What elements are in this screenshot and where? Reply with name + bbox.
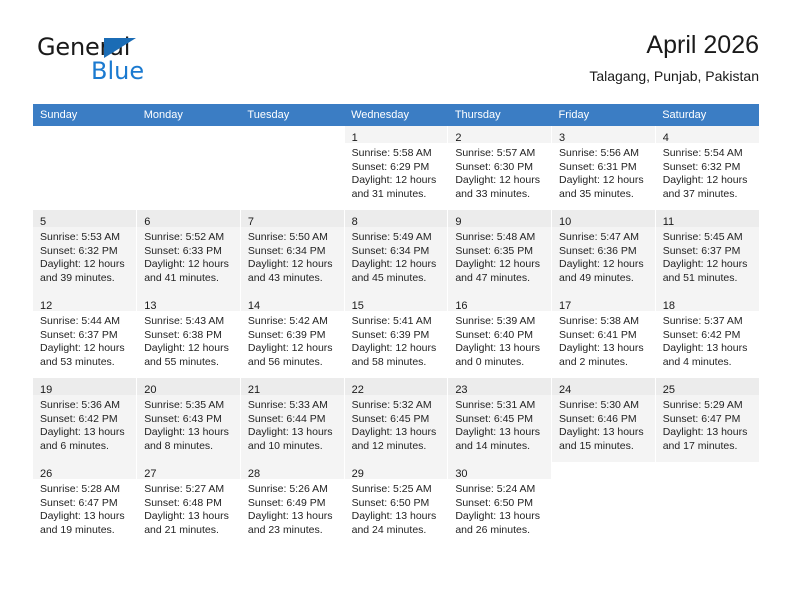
calendar-day-cell-empty (33, 126, 137, 210)
daylight-text: Daylight: 13 hours and 26 minutes. (455, 510, 544, 537)
daylight-text: Daylight: 13 hours and 4 minutes. (663, 342, 752, 369)
day-cell-inner: 19Sunrise: 5:36 AMSunset: 6:42 PMDayligh… (33, 378, 136, 462)
sunrise-text: Sunrise: 5:41 AM (352, 315, 441, 329)
daylight-text: Daylight: 12 hours and 37 minutes. (663, 174, 752, 201)
day-details: Sunrise: 5:44 AMSunset: 6:37 PMDaylight:… (33, 311, 136, 369)
day-cell-inner: 10Sunrise: 5:47 AMSunset: 6:36 PMDayligh… (552, 210, 655, 294)
sunrise-text: Sunrise: 5:47 AM (559, 231, 648, 245)
day-cell-inner: 26Sunrise: 5:28 AMSunset: 6:47 PMDayligh… (33, 462, 136, 546)
calendar-day-cell-empty (552, 462, 656, 546)
day-number-band (241, 126, 344, 143)
day-details: Sunrise: 5:33 AMSunset: 6:44 PMDaylight:… (241, 395, 344, 453)
day-number-band: 1 (345, 126, 448, 143)
page-subtitle: Talagang, Punjab, Pakistan (589, 67, 759, 85)
sunset-text: Sunset: 6:34 PM (248, 245, 337, 259)
sunset-text: Sunset: 6:50 PM (455, 497, 544, 511)
day-number: 27 (144, 468, 156, 480)
calendar-header-row: SundayMondayTuesdayWednesdayThursdayFrid… (33, 104, 759, 126)
day-details: Sunrise: 5:30 AMSunset: 6:46 PMDaylight:… (552, 395, 655, 453)
brand-name-bottom: Blue (91, 58, 144, 84)
calendar-day-cell[interactable]: 2Sunrise: 5:57 AMSunset: 6:30 PMDaylight… (448, 126, 552, 210)
weekday-header-sunday: Sunday (33, 104, 137, 126)
day-number-band: 14 (241, 294, 344, 311)
sunset-text: Sunset: 6:35 PM (455, 245, 544, 259)
sunrise-text: Sunrise: 5:27 AM (144, 483, 233, 497)
sunset-text: Sunset: 6:42 PM (663, 329, 752, 343)
day-number: 26 (40, 468, 52, 480)
day-cell-inner: 16Sunrise: 5:39 AMSunset: 6:40 PMDayligh… (448, 294, 551, 378)
day-number-band: 22 (345, 378, 448, 395)
sunset-text: Sunset: 6:37 PM (663, 245, 752, 259)
day-details: Sunrise: 5:54 AMSunset: 6:32 PMDaylight:… (656, 143, 759, 201)
day-number-band: 17 (552, 294, 655, 311)
day-number: 8 (352, 216, 358, 228)
calendar-week-row: 1Sunrise: 5:58 AMSunset: 6:29 PMDaylight… (33, 126, 759, 210)
daylight-text: Daylight: 13 hours and 15 minutes. (559, 426, 648, 453)
day-number-band: 21 (241, 378, 344, 395)
day-cell-inner: 6Sunrise: 5:52 AMSunset: 6:33 PMDaylight… (137, 210, 240, 294)
day-details: Sunrise: 5:42 AMSunset: 6:39 PMDaylight:… (241, 311, 344, 369)
day-number-band: 8 (345, 210, 448, 227)
calendar-day-cell[interactable]: 11Sunrise: 5:45 AMSunset: 6:37 PMDayligh… (655, 210, 759, 294)
calendar-day-cell[interactable]: 25Sunrise: 5:29 AMSunset: 6:47 PMDayligh… (655, 378, 759, 462)
day-number: 6 (144, 216, 150, 228)
weekday-header-tuesday: Tuesday (240, 104, 344, 126)
sunset-text: Sunset: 6:50 PM (352, 497, 441, 511)
calendar-day-cell[interactable]: 16Sunrise: 5:39 AMSunset: 6:40 PMDayligh… (448, 294, 552, 378)
day-number-band: 18 (656, 294, 759, 311)
day-cell-inner: 9Sunrise: 5:48 AMSunset: 6:35 PMDaylight… (448, 210, 551, 294)
day-number: 28 (248, 468, 260, 480)
day-cell-inner: 20Sunrise: 5:35 AMSunset: 6:43 PMDayligh… (137, 378, 240, 462)
calendar-day-cell[interactable]: 19Sunrise: 5:36 AMSunset: 6:42 PMDayligh… (33, 378, 137, 462)
calendar-day-cell[interactable]: 9Sunrise: 5:48 AMSunset: 6:35 PMDaylight… (448, 210, 552, 294)
day-number-band: 23 (448, 378, 551, 395)
sunrise-text: Sunrise: 5:54 AM (663, 147, 752, 161)
daylight-text: Daylight: 13 hours and 21 minutes. (144, 510, 233, 537)
day-details: Sunrise: 5:53 AMSunset: 6:32 PMDaylight:… (33, 227, 136, 285)
day-number: 20 (144, 384, 156, 396)
calendar-day-cell[interactable]: 20Sunrise: 5:35 AMSunset: 6:43 PMDayligh… (137, 378, 241, 462)
sunset-text: Sunset: 6:33 PM (144, 245, 233, 259)
sunrise-text: Sunrise: 5:28 AM (40, 483, 129, 497)
day-cell-inner: 15Sunrise: 5:41 AMSunset: 6:39 PMDayligh… (345, 294, 448, 378)
calendar-week-row: 12Sunrise: 5:44 AMSunset: 6:37 PMDayligh… (33, 294, 759, 378)
daylight-text: Daylight: 13 hours and 10 minutes. (248, 426, 337, 453)
day-number: 14 (248, 300, 260, 312)
calendar-day-cell[interactable]: 10Sunrise: 5:47 AMSunset: 6:36 PMDayligh… (552, 210, 656, 294)
day-details: Sunrise: 5:43 AMSunset: 6:38 PMDaylight:… (137, 311, 240, 369)
day-number: 19 (40, 384, 52, 396)
day-number-band: 15 (345, 294, 448, 311)
sunrise-text: Sunrise: 5:58 AM (352, 147, 441, 161)
day-number-band: 2 (448, 126, 551, 143)
sunset-text: Sunset: 6:42 PM (40, 413, 129, 427)
daylight-text: Daylight: 12 hours and 55 minutes. (144, 342, 233, 369)
day-details: Sunrise: 5:29 AMSunset: 6:47 PMDaylight:… (656, 395, 759, 453)
day-number-band: 27 (137, 462, 240, 479)
day-number: 9 (455, 216, 461, 228)
day-cell-inner: 7Sunrise: 5:50 AMSunset: 6:34 PMDaylight… (241, 210, 344, 294)
day-details: Sunrise: 5:31 AMSunset: 6:45 PMDaylight:… (448, 395, 551, 453)
calendar-day-cell[interactable]: 7Sunrise: 5:50 AMSunset: 6:34 PMDaylight… (240, 210, 344, 294)
day-cell-inner: 18Sunrise: 5:37 AMSunset: 6:42 PMDayligh… (656, 294, 759, 378)
day-number-band: 5 (33, 210, 136, 227)
calendar-day-cell[interactable]: 21Sunrise: 5:33 AMSunset: 6:44 PMDayligh… (240, 378, 344, 462)
daylight-text: Daylight: 12 hours and 39 minutes. (40, 258, 129, 285)
weekday-header-friday: Friday (552, 104, 656, 126)
daylight-text: Daylight: 12 hours and 58 minutes. (352, 342, 441, 369)
day-cell-inner: 21Sunrise: 5:33 AMSunset: 6:44 PMDayligh… (241, 378, 344, 462)
sunset-text: Sunset: 6:32 PM (663, 161, 752, 175)
sunrise-text: Sunrise: 5:32 AM (352, 399, 441, 413)
day-number: 15 (352, 300, 364, 312)
day-number: 13 (144, 300, 156, 312)
day-details: Sunrise: 5:27 AMSunset: 6:48 PMDaylight:… (137, 479, 240, 537)
day-number-band: 20 (137, 378, 240, 395)
day-details: Sunrise: 5:39 AMSunset: 6:40 PMDaylight:… (448, 311, 551, 369)
calendar-day-cell[interactable]: 29Sunrise: 5:25 AMSunset: 6:50 PMDayligh… (344, 462, 448, 546)
calendar-day-cell[interactable]: 5Sunrise: 5:53 AMSunset: 6:32 PMDaylight… (33, 210, 137, 294)
sunset-text: Sunset: 6:38 PM (144, 329, 233, 343)
day-cell-inner: 8Sunrise: 5:49 AMSunset: 6:34 PMDaylight… (345, 210, 448, 294)
sunrise-text: Sunrise: 5:29 AM (663, 399, 752, 413)
title-block: April 2026 Talagang, Punjab, Pakistan (589, 30, 759, 85)
sunrise-text: Sunrise: 5:52 AM (144, 231, 233, 245)
day-details: Sunrise: 5:49 AMSunset: 6:34 PMDaylight:… (345, 227, 448, 285)
day-cell-inner: 5Sunrise: 5:53 AMSunset: 6:32 PMDaylight… (33, 210, 136, 294)
day-cell-inner: 24Sunrise: 5:30 AMSunset: 6:46 PMDayligh… (552, 378, 655, 462)
daylight-text: Daylight: 13 hours and 17 minutes. (663, 426, 752, 453)
day-number-band: 6 (137, 210, 240, 227)
sunset-text: Sunset: 6:48 PM (144, 497, 233, 511)
calendar-day-cell[interactable]: 22Sunrise: 5:32 AMSunset: 6:45 PMDayligh… (344, 378, 448, 462)
calendar-day-cell[interactable]: 27Sunrise: 5:27 AMSunset: 6:48 PMDayligh… (137, 462, 241, 546)
day-cell-inner (241, 126, 344, 210)
day-details: Sunrise: 5:35 AMSunset: 6:43 PMDaylight:… (137, 395, 240, 453)
sunrise-text: Sunrise: 5:44 AM (40, 315, 129, 329)
day-number-band: 28 (241, 462, 344, 479)
day-cell-inner: 28Sunrise: 5:26 AMSunset: 6:49 PMDayligh… (241, 462, 344, 546)
day-cell-inner: 3Sunrise: 5:56 AMSunset: 6:31 PMDaylight… (552, 126, 655, 210)
sunset-text: Sunset: 6:31 PM (559, 161, 648, 175)
calendar-week-row: 19Sunrise: 5:36 AMSunset: 6:42 PMDayligh… (33, 378, 759, 462)
day-number-band: 25 (656, 378, 759, 395)
sunset-text: Sunset: 6:45 PM (352, 413, 441, 427)
sunrise-text: Sunrise: 5:43 AM (144, 315, 233, 329)
day-number-band (656, 462, 759, 479)
day-number: 4 (663, 132, 669, 144)
day-details: Sunrise: 5:38 AMSunset: 6:41 PMDaylight:… (552, 311, 655, 369)
day-number-band: 13 (137, 294, 240, 311)
day-details: Sunrise: 5:36 AMSunset: 6:42 PMDaylight:… (33, 395, 136, 453)
day-cell-inner: 23Sunrise: 5:31 AMSunset: 6:45 PMDayligh… (448, 378, 551, 462)
sunrise-text: Sunrise: 5:42 AM (248, 315, 337, 329)
daylight-text: Daylight: 13 hours and 8 minutes. (144, 426, 233, 453)
calendar-day-cell[interactable]: 12Sunrise: 5:44 AMSunset: 6:37 PMDayligh… (33, 294, 137, 378)
sunset-text: Sunset: 6:40 PM (455, 329, 544, 343)
page-header: General Blue April 2026 Talagang, Punjab… (33, 30, 759, 96)
weekday-header-thursday: Thursday (448, 104, 552, 126)
day-number: 17 (559, 300, 571, 312)
sunrise-text: Sunrise: 5:57 AM (455, 147, 544, 161)
sunrise-text: Sunrise: 5:49 AM (352, 231, 441, 245)
day-number-band: 26 (33, 462, 136, 479)
day-cell-inner: 14Sunrise: 5:42 AMSunset: 6:39 PMDayligh… (241, 294, 344, 378)
daylight-text: Daylight: 12 hours and 45 minutes. (352, 258, 441, 285)
weekday-header-monday: Monday (137, 104, 241, 126)
calendar-day-cell-empty (655, 462, 759, 546)
day-cell-inner (137, 126, 240, 210)
sunset-text: Sunset: 6:36 PM (559, 245, 648, 259)
calendar-day-cell[interactable]: 26Sunrise: 5:28 AMSunset: 6:47 PMDayligh… (33, 462, 137, 546)
day-number-band: 7 (241, 210, 344, 227)
day-number: 24 (559, 384, 571, 396)
sunset-text: Sunset: 6:46 PM (559, 413, 648, 427)
day-number-band: 10 (552, 210, 655, 227)
sunrise-text: Sunrise: 5:38 AM (559, 315, 648, 329)
sunset-text: Sunset: 6:29 PM (352, 161, 441, 175)
daylight-text: Daylight: 12 hours and 31 minutes. (352, 174, 441, 201)
calendar-day-cell[interactable]: 14Sunrise: 5:42 AMSunset: 6:39 PMDayligh… (240, 294, 344, 378)
sunset-text: Sunset: 6:45 PM (455, 413, 544, 427)
weekday-header-saturday: Saturday (655, 104, 759, 126)
calendar-week-row: 26Sunrise: 5:28 AMSunset: 6:47 PMDayligh… (33, 462, 759, 546)
day-number-band (137, 126, 240, 143)
day-details: Sunrise: 5:41 AMSunset: 6:39 PMDaylight:… (345, 311, 448, 369)
day-number: 22 (352, 384, 364, 396)
sunrise-text: Sunrise: 5:35 AM (144, 399, 233, 413)
day-number-band: 24 (552, 378, 655, 395)
daylight-text: Daylight: 12 hours and 56 minutes. (248, 342, 337, 369)
calendar-day-cell-empty (240, 126, 344, 210)
day-number: 7 (248, 216, 254, 228)
sunrise-text: Sunrise: 5:48 AM (455, 231, 544, 245)
calendar-day-cell[interactable]: 13Sunrise: 5:43 AMSunset: 6:38 PMDayligh… (137, 294, 241, 378)
daylight-text: Daylight: 12 hours and 35 minutes. (559, 174, 648, 201)
daylight-text: Daylight: 12 hours and 41 minutes. (144, 258, 233, 285)
day-number: 18 (663, 300, 675, 312)
day-cell-inner: 17Sunrise: 5:38 AMSunset: 6:41 PMDayligh… (552, 294, 655, 378)
sunset-text: Sunset: 6:32 PM (40, 245, 129, 259)
day-number: 21 (248, 384, 260, 396)
daylight-text: Daylight: 13 hours and 23 minutes. (248, 510, 337, 537)
day-number: 1 (352, 132, 358, 144)
calendar-body: 1Sunrise: 5:58 AMSunset: 6:29 PMDaylight… (33, 126, 759, 546)
sunrise-text: Sunrise: 5:39 AM (455, 315, 544, 329)
sunset-text: Sunset: 6:47 PM (40, 497, 129, 511)
sunrise-text: Sunrise: 5:33 AM (248, 399, 337, 413)
sunrise-text: Sunrise: 5:26 AM (248, 483, 337, 497)
day-number: 25 (663, 384, 675, 396)
daylight-text: Daylight: 13 hours and 19 minutes. (40, 510, 129, 537)
day-number-band: 12 (33, 294, 136, 311)
calendar-day-cell-empty (137, 126, 241, 210)
sunrise-text: Sunrise: 5:36 AM (40, 399, 129, 413)
day-number-band (552, 462, 655, 479)
day-details: Sunrise: 5:58 AMSunset: 6:29 PMDaylight:… (345, 143, 448, 201)
calendar-page: General Blue April 2026 Talagang, Punjab… (0, 0, 792, 612)
daylight-text: Daylight: 12 hours and 47 minutes. (455, 258, 544, 285)
daylight-text: Daylight: 13 hours and 12 minutes. (352, 426, 441, 453)
day-number: 23 (455, 384, 467, 396)
day-details: Sunrise: 5:50 AMSunset: 6:34 PMDaylight:… (241, 227, 344, 285)
day-cell-inner: 29Sunrise: 5:25 AMSunset: 6:50 PMDayligh… (345, 462, 448, 546)
sunset-text: Sunset: 6:41 PM (559, 329, 648, 343)
daylight-text: Daylight: 13 hours and 14 minutes. (455, 426, 544, 453)
day-cell-inner: 1Sunrise: 5:58 AMSunset: 6:29 PMDaylight… (345, 126, 448, 210)
sunrise-text: Sunrise: 5:31 AM (455, 399, 544, 413)
day-number-band: 30 (448, 462, 551, 479)
day-cell-inner (552, 462, 655, 546)
day-number-band: 19 (33, 378, 136, 395)
sunrise-text: Sunrise: 5:50 AM (248, 231, 337, 245)
calendar-table: SundayMondayTuesdayWednesdayThursdayFrid… (33, 104, 759, 546)
sunrise-text: Sunrise: 5:45 AM (663, 231, 752, 245)
sunrise-text: Sunrise: 5:25 AM (352, 483, 441, 497)
day-cell-inner: 25Sunrise: 5:29 AMSunset: 6:47 PMDayligh… (656, 378, 759, 462)
daylight-text: Daylight: 13 hours and 2 minutes. (559, 342, 648, 369)
day-number-band (33, 126, 136, 143)
calendar-day-cell[interactable]: 18Sunrise: 5:37 AMSunset: 6:42 PMDayligh… (655, 294, 759, 378)
sunrise-text: Sunrise: 5:30 AM (559, 399, 648, 413)
day-cell-inner (656, 462, 759, 546)
day-number-band: 11 (656, 210, 759, 227)
day-cell-inner: 27Sunrise: 5:27 AMSunset: 6:48 PMDayligh… (137, 462, 240, 546)
day-number-band: 9 (448, 210, 551, 227)
day-details: Sunrise: 5:48 AMSunset: 6:35 PMDaylight:… (448, 227, 551, 285)
calendar-week-row: 5Sunrise: 5:53 AMSunset: 6:32 PMDaylight… (33, 210, 759, 294)
calendar-day-cell[interactable]: 24Sunrise: 5:30 AMSunset: 6:46 PMDayligh… (552, 378, 656, 462)
sunset-text: Sunset: 6:39 PM (248, 329, 337, 343)
calendar-day-cell[interactable]: 4Sunrise: 5:54 AMSunset: 6:32 PMDaylight… (655, 126, 759, 210)
daylight-text: Daylight: 12 hours and 49 minutes. (559, 258, 648, 285)
day-number: 29 (352, 468, 364, 480)
day-details: Sunrise: 5:37 AMSunset: 6:42 PMDaylight:… (656, 311, 759, 369)
calendar-day-cell[interactable]: 1Sunrise: 5:58 AMSunset: 6:29 PMDaylight… (344, 126, 448, 210)
daylight-text: Daylight: 12 hours and 43 minutes. (248, 258, 337, 285)
day-cell-inner: 4Sunrise: 5:54 AMSunset: 6:32 PMDaylight… (656, 126, 759, 210)
day-cell-inner: 22Sunrise: 5:32 AMSunset: 6:45 PMDayligh… (345, 378, 448, 462)
calendar-day-cell[interactable]: 6Sunrise: 5:52 AMSunset: 6:33 PMDaylight… (137, 210, 241, 294)
day-number: 11 (663, 216, 674, 228)
day-number: 30 (455, 468, 467, 480)
calendar-day-cell[interactable]: 28Sunrise: 5:26 AMSunset: 6:49 PMDayligh… (240, 462, 344, 546)
day-number: 16 (455, 300, 467, 312)
day-cell-inner: 12Sunrise: 5:44 AMSunset: 6:37 PMDayligh… (33, 294, 136, 378)
day-details: Sunrise: 5:52 AMSunset: 6:33 PMDaylight:… (137, 227, 240, 285)
daylight-text: Daylight: 12 hours and 51 minutes. (663, 258, 752, 285)
sunset-text: Sunset: 6:47 PM (663, 413, 752, 427)
sunrise-text: Sunrise: 5:53 AM (40, 231, 129, 245)
sunset-text: Sunset: 6:43 PM (144, 413, 233, 427)
day-cell-inner: 30Sunrise: 5:24 AMSunset: 6:50 PMDayligh… (448, 462, 551, 546)
day-details: Sunrise: 5:47 AMSunset: 6:36 PMDaylight:… (552, 227, 655, 285)
sunset-text: Sunset: 6:39 PM (352, 329, 441, 343)
sunset-text: Sunset: 6:30 PM (455, 161, 544, 175)
calendar-day-cell[interactable]: 8Sunrise: 5:49 AMSunset: 6:34 PMDaylight… (344, 210, 448, 294)
day-number: 3 (559, 132, 565, 144)
calendar-day-cell[interactable]: 15Sunrise: 5:41 AMSunset: 6:39 PMDayligh… (344, 294, 448, 378)
calendar-day-cell[interactable]: 3Sunrise: 5:56 AMSunset: 6:31 PMDaylight… (552, 126, 656, 210)
day-details: Sunrise: 5:24 AMSunset: 6:50 PMDaylight:… (448, 479, 551, 537)
calendar-day-cell[interactable]: 23Sunrise: 5:31 AMSunset: 6:45 PMDayligh… (448, 378, 552, 462)
day-number: 12 (40, 300, 52, 312)
day-number-band: 4 (656, 126, 759, 143)
day-number: 10 (559, 216, 571, 228)
sunset-text: Sunset: 6:37 PM (40, 329, 129, 343)
day-details: Sunrise: 5:45 AMSunset: 6:37 PMDaylight:… (656, 227, 759, 285)
day-number-band: 3 (552, 126, 655, 143)
daylight-text: Daylight: 12 hours and 33 minutes. (455, 174, 544, 201)
brand-logo[interactable]: General Blue (33, 34, 243, 90)
sunrise-text: Sunrise: 5:24 AM (455, 483, 544, 497)
daylight-text: Daylight: 12 hours and 53 minutes. (40, 342, 129, 369)
day-details: Sunrise: 5:26 AMSunset: 6:49 PMDaylight:… (241, 479, 344, 537)
calendar-day-cell[interactable]: 17Sunrise: 5:38 AMSunset: 6:41 PMDayligh… (552, 294, 656, 378)
daylight-text: Daylight: 13 hours and 0 minutes. (455, 342, 544, 369)
calendar-day-cell[interactable]: 30Sunrise: 5:24 AMSunset: 6:50 PMDayligh… (448, 462, 552, 546)
day-number-band: 16 (448, 294, 551, 311)
day-number-band: 29 (345, 462, 448, 479)
day-cell-inner: 13Sunrise: 5:43 AMSunset: 6:38 PMDayligh… (137, 294, 240, 378)
sunrise-text: Sunrise: 5:37 AM (663, 315, 752, 329)
day-number: 2 (455, 132, 461, 144)
daylight-text: Daylight: 13 hours and 24 minutes. (352, 510, 441, 537)
sunset-text: Sunset: 6:44 PM (248, 413, 337, 427)
day-details: Sunrise: 5:57 AMSunset: 6:30 PMDaylight:… (448, 143, 551, 201)
triangle-icon (104, 38, 136, 58)
sunset-text: Sunset: 6:34 PM (352, 245, 441, 259)
day-number: 5 (40, 216, 46, 228)
page-title: April 2026 (589, 30, 759, 61)
day-cell-inner (33, 126, 136, 210)
daylight-text: Daylight: 13 hours and 6 minutes. (40, 426, 129, 453)
day-cell-inner: 11Sunrise: 5:45 AMSunset: 6:37 PMDayligh… (656, 210, 759, 294)
day-details: Sunrise: 5:32 AMSunset: 6:45 PMDaylight:… (345, 395, 448, 453)
weekday-header-wednesday: Wednesday (344, 104, 448, 126)
day-details: Sunrise: 5:25 AMSunset: 6:50 PMDaylight:… (345, 479, 448, 537)
day-details: Sunrise: 5:56 AMSunset: 6:31 PMDaylight:… (552, 143, 655, 201)
sunset-text: Sunset: 6:49 PM (248, 497, 337, 511)
sunrise-text: Sunrise: 5:56 AM (559, 147, 648, 161)
day-cell-inner: 2Sunrise: 5:57 AMSunset: 6:30 PMDaylight… (448, 126, 551, 210)
day-details: Sunrise: 5:28 AMSunset: 6:47 PMDaylight:… (33, 479, 136, 537)
